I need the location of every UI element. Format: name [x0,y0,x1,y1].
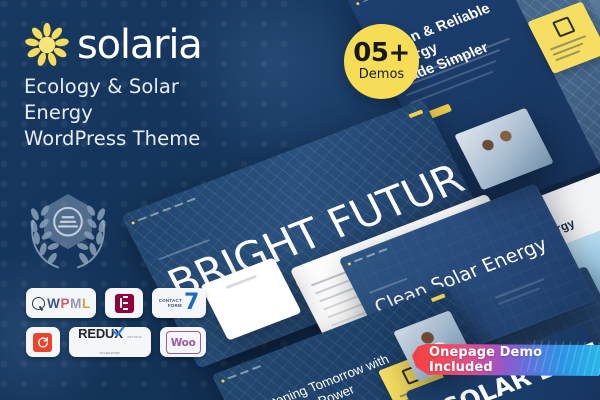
demos-count: 05+ [353,41,409,66]
left-info-panel: solaria Ecology & Solar Energy WordPress… [0,0,250,400]
demos-label: Demos [359,67,404,82]
person-head-icon [498,129,513,143]
wpml-letter-w: W [47,296,59,311]
person-head-icon [480,138,495,152]
redux-wordmark: REDUX [78,327,123,340]
nav-item [378,248,387,253]
woo-text: Woo [171,337,196,349]
brand-tagline: Ecology & Solar Energy WordPress Theme [24,74,239,152]
promo-banner: Clean & Reliable Energy Made Simpler [0,0,600,400]
slider-revolution-logo-icon [33,333,52,352]
onepage-demo-ribbon: Onepage Demo Included [412,344,600,376]
elementor-logo-icon [115,294,134,313]
note-icon [552,16,576,37]
logo-dot-icon [356,2,360,6]
envato-hexagon-icon [44,194,92,249]
demos-count-badge: 05+ Demos [344,24,419,99]
nav-item [354,258,363,263]
brand-name: solaria [77,25,202,65]
wpml-letter-l: L [82,296,90,311]
plugin-badge-wpml[interactable]: WPML [26,288,96,318]
plugin-badge-woocommerce[interactable]: Woo [160,327,206,357]
plugin-badge-redux[interactable]: REDUX OPTIONS FRAMEWORK [69,327,151,357]
onepage-demo-label: Onepage Demo Included [429,345,600,375]
logo-dot-icon [347,262,351,266]
wpml-letter-p: P [61,296,70,311]
wpml-globe-icon [32,297,45,310]
wpml-letter-m: M [70,296,81,311]
tagline-line-1: Ecology & Solar Energy [24,74,239,126]
redux-check-icon [112,327,128,336]
contact-form-7-logo-icon: CONTACT FORM 7 [159,293,200,313]
woocommerce-logo-icon: Woo [166,331,201,354]
cf7-text-top: CONTACT [159,298,182,303]
plugin-badge-slider-revolution[interactable] [26,327,60,357]
nav-cta-button [408,110,423,119]
plugin-badges-row-2: REDUX OPTIONS FRAMEWORK Woo [26,327,206,357]
plugin-badge-elementor[interactable] [105,288,143,318]
nav-item [252,365,261,370]
tagline-line-2: WordPress Theme [24,126,239,152]
nav-item [366,253,375,258]
sun-icon [24,22,70,68]
wpml-logo-icon: WPML [32,296,90,311]
nav-item [363,0,372,2]
cf7-wordmark: CONTACT FORM [159,298,182,309]
redux-logo-icon: REDUX OPTIONS FRAMEWORK [69,327,151,357]
brand-logo: solaria [24,22,202,68]
laurel-wreath-badge-icon [22,183,114,275]
plugin-badges-row-1: WPML CONTACT FORM 7 [26,288,206,318]
plugin-badges: WPML CONTACT FORM 7 [26,288,206,366]
cf7-number: 7 [184,293,199,313]
plugin-badge-contact-form-7[interactable]: CONTACT FORM 7 [152,288,206,318]
cf7-text-bottom: FORM [168,303,182,308]
